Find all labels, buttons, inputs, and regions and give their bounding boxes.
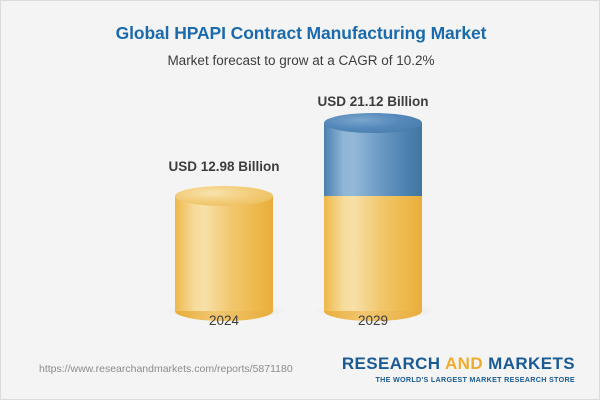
x-axis-label-2024: 2024 <box>144 313 304 328</box>
logo-tagline: THE WORLD'S LARGEST MARKET RESEARCH STOR… <box>342 375 575 384</box>
logo-wordmark: RESEARCH AND MARKETS <box>342 355 575 373</box>
cylinder-body <box>324 123 422 196</box>
footer: https://www.researchandmarkets.com/repor… <box>1 349 600 399</box>
chart-subtitle: Market forecast to grow at a CAGR of 10.… <box>1 53 600 68</box>
bar-segment-2029-growth[interactable] <box>324 123 422 196</box>
chart-canvas: Global HPAPI Contract Manufacturing Mark… <box>0 0 600 400</box>
x-axis-label-2029: 2029 <box>293 313 453 328</box>
cylinder-top-ellipse <box>175 186 273 206</box>
bar-value-label-2024: USD 12.98 Billion <box>144 159 304 174</box>
source-url[interactable]: https://www.researchandmarkets.com/repor… <box>39 363 293 375</box>
bar-segment-2024-base[interactable] <box>175 196 273 311</box>
logo-word-research: RESEARCH <box>342 354 441 373</box>
logo-word-markets: MARKETS <box>488 354 575 373</box>
brand-logo[interactable]: RESEARCH AND MARKETS THE WORLD'S LARGEST… <box>342 355 575 384</box>
plot-area: USD 12.98 Billion USD 21.12 Billion <box>1 81 600 341</box>
logo-word-and: AND <box>445 354 483 373</box>
bar-value-label-2029: USD 21.12 Billion <box>293 94 453 109</box>
chart-title: Global HPAPI Contract Manufacturing Mark… <box>1 23 600 44</box>
cylinder-body <box>175 196 273 311</box>
cylinder-body <box>324 196 422 311</box>
bar-segment-2029-base[interactable] <box>324 196 422 311</box>
cylinder-top-ellipse <box>324 113 422 133</box>
